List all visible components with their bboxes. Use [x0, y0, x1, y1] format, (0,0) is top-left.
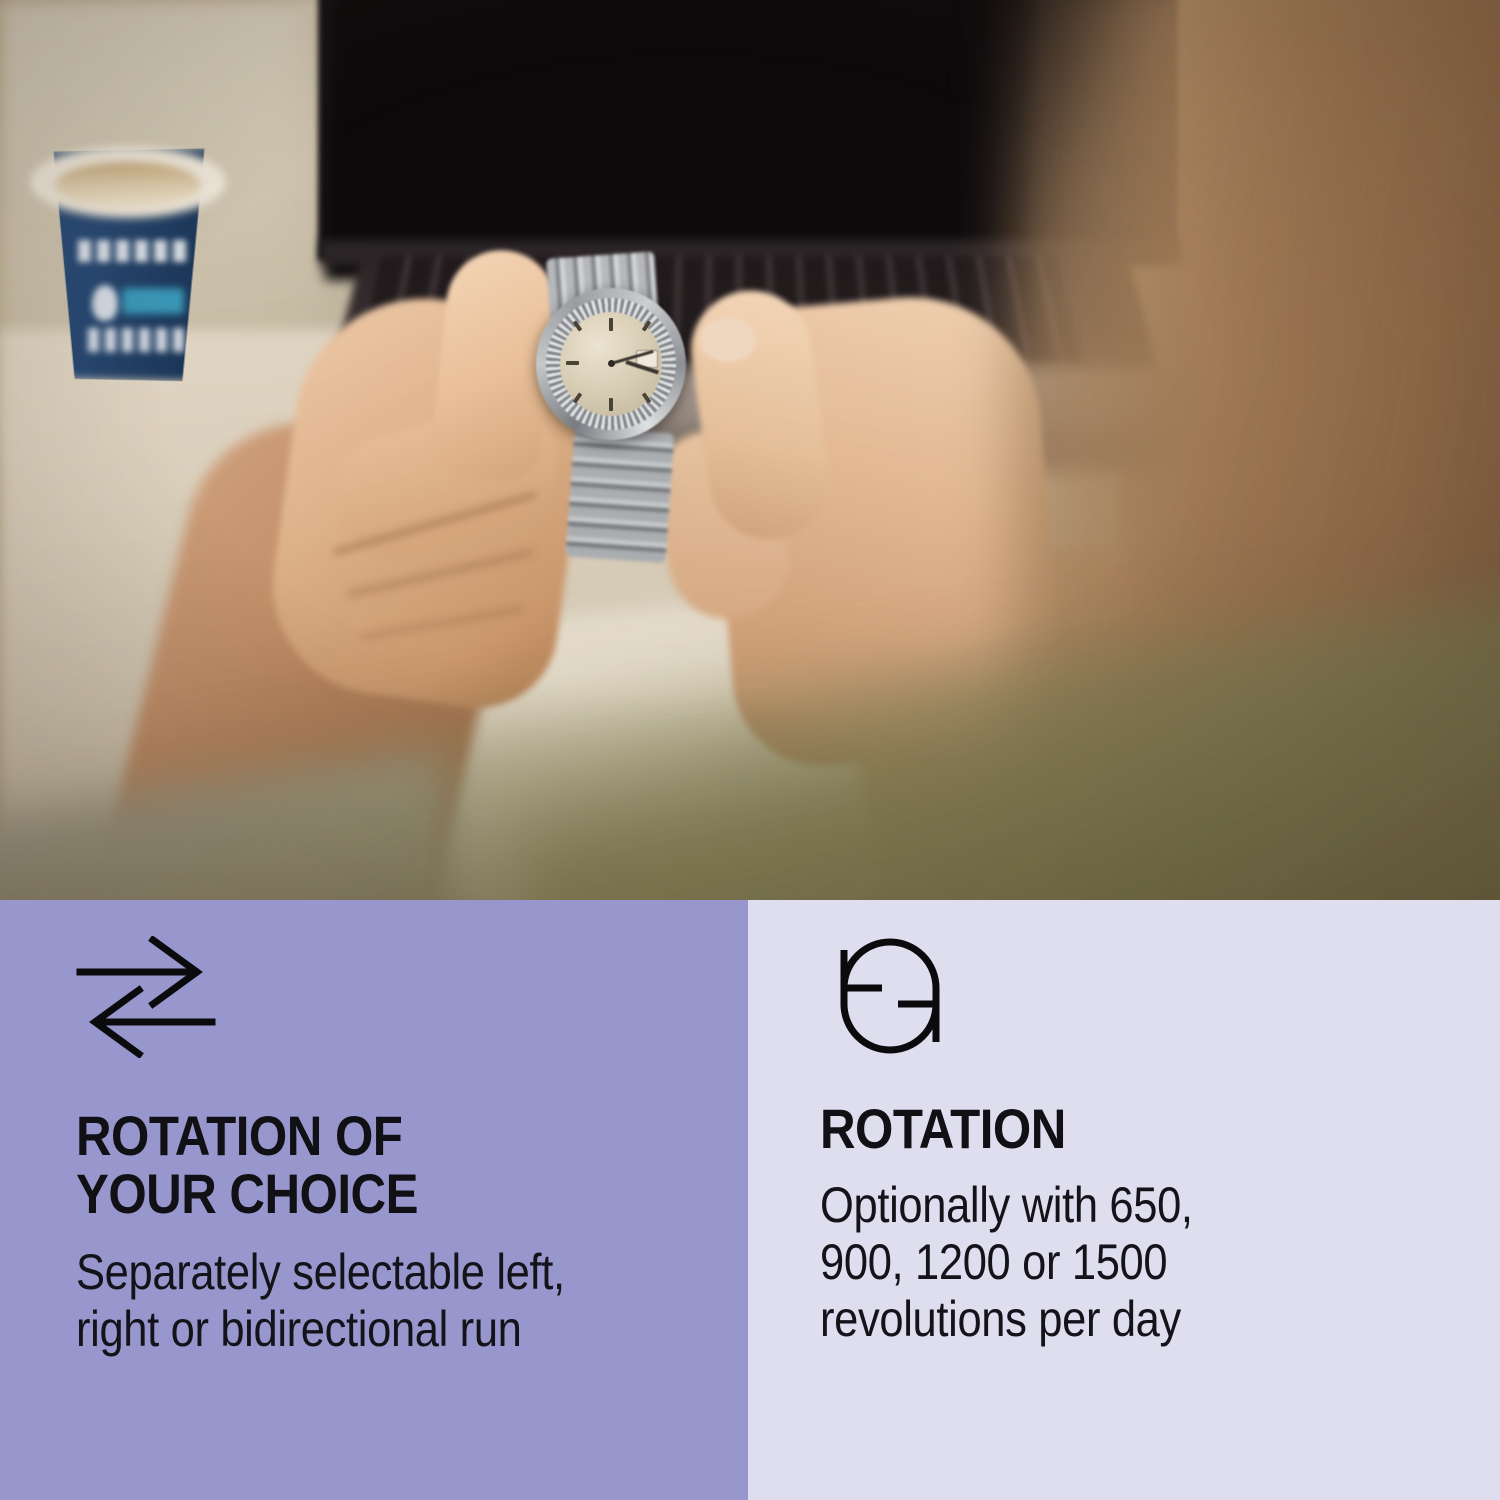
left-right-arrows-icon — [75, 936, 217, 1058]
left-panel-headline: ROTATION OF YOUR CHOICE — [76, 1107, 632, 1223]
feature-panel-rotation-speed: ROTATION Optionally with 650, 900, 1200 … — [748, 900, 1500, 1500]
infographic-card: ROTATION OF YOUR CHOICE Separately selec… — [0, 0, 1500, 1500]
hero-photo — [0, 0, 1500, 900]
feature-panel-rotation-direction: ROTATION OF YOUR CHOICE Separately selec… — [0, 900, 748, 1500]
photo-vignette — [0, 0, 1500, 900]
left-panel-body: Separately selectable left, right or bid… — [76, 1244, 626, 1358]
circular-rotation-arrows-icon — [820, 926, 960, 1066]
feature-panels: ROTATION OF YOUR CHOICE Separately selec… — [0, 900, 1500, 1500]
right-panel-text: ROTATION Optionally with 650, 900, 1200 … — [820, 1100, 1460, 1348]
right-panel-headline: ROTATION — [820, 1100, 1383, 1158]
left-panel-text: ROTATION OF YOUR CHOICE Separately selec… — [76, 1107, 708, 1358]
right-panel-body: Optionally with 650, 900, 1200 or 1500 r… — [820, 1177, 1377, 1348]
